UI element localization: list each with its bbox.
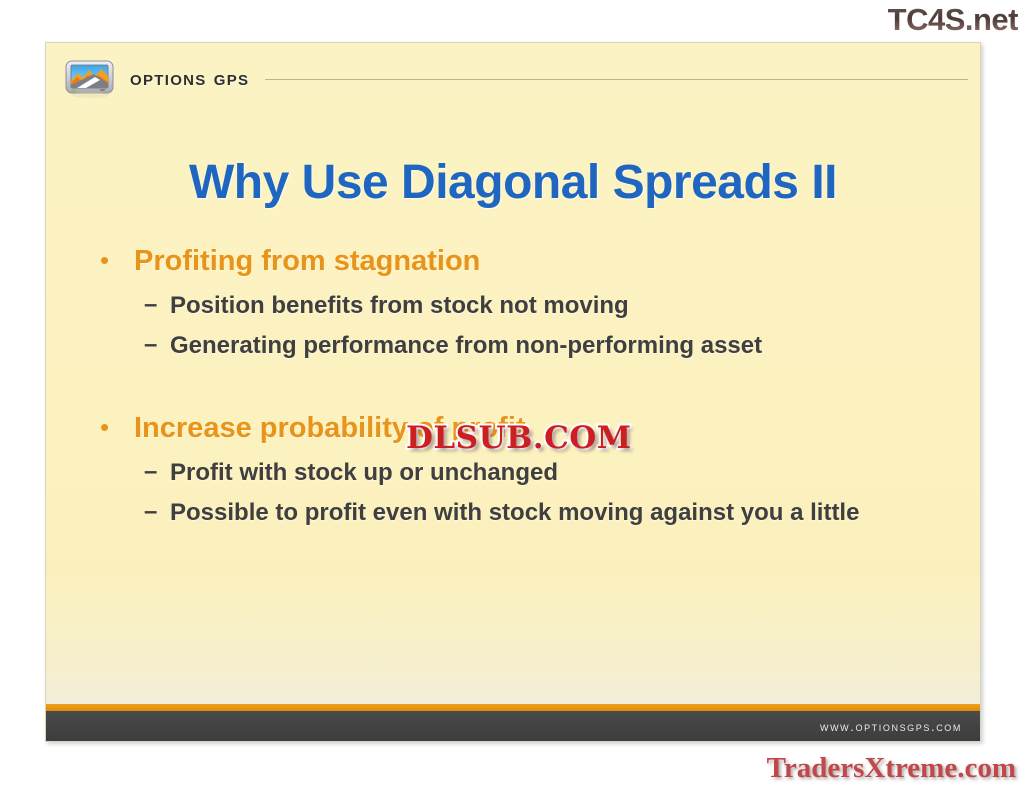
bullet-group-1: • Profiting from stagnation – Position b…	[96, 243, 950, 362]
sub-bullet: – Generating performance from non-perfor…	[144, 329, 950, 362]
footer-accent-bar	[46, 704, 980, 711]
sub-bullet: – Profit with stock up or unchanged	[144, 456, 950, 489]
header-divider-rule	[265, 79, 968, 80]
sub-bullet-label: Position benefits from stock not moving	[170, 289, 940, 322]
page-title: Why Use Diagonal Spreads II	[46, 155, 980, 210]
sub-bullet: – Possible to profit even with stock mov…	[144, 496, 950, 529]
slide-footer: www.OptionsGPS.com	[46, 711, 980, 741]
dash-icon: –	[144, 289, 170, 321]
footer-url-label: www.OptionsGPS.com	[820, 719, 980, 734]
brand-name: Options GPS	[130, 67, 249, 91]
bullet-dot-icon: •	[96, 243, 134, 277]
bullet-heading-label: Profiting from stagnation	[134, 243, 950, 279]
slide-header: Options GPS	[64, 56, 972, 102]
dash-icon: –	[144, 496, 170, 528]
tradersxtreme-watermark: TradersXtreme.com	[767, 752, 1016, 785]
slide-body: • Profiting from stagnation – Position b…	[96, 243, 950, 551]
presentation-slide: Options GPS Why Use Diagonal Spreads II …	[45, 42, 981, 742]
dash-icon: –	[144, 456, 170, 488]
sub-bullet-label: Possible to profit even with stock movin…	[170, 496, 940, 529]
sub-bullet-label: Profit with stock up or unchanged	[170, 456, 940, 489]
bullet-heading: • Profiting from stagnation	[96, 243, 950, 279]
sub-bullet: – Position benefits from stock not movin…	[144, 289, 950, 322]
dash-icon: –	[144, 329, 170, 361]
gps-device-icon	[64, 59, 116, 99]
tc4s-watermark: TC4S.net	[888, 2, 1018, 38]
bullet-dot-icon: •	[96, 410, 134, 444]
sub-bullet-label: Generating performance from non-performi…	[170, 329, 940, 362]
dlsub-watermark: DLSUB.COM	[406, 420, 632, 456]
